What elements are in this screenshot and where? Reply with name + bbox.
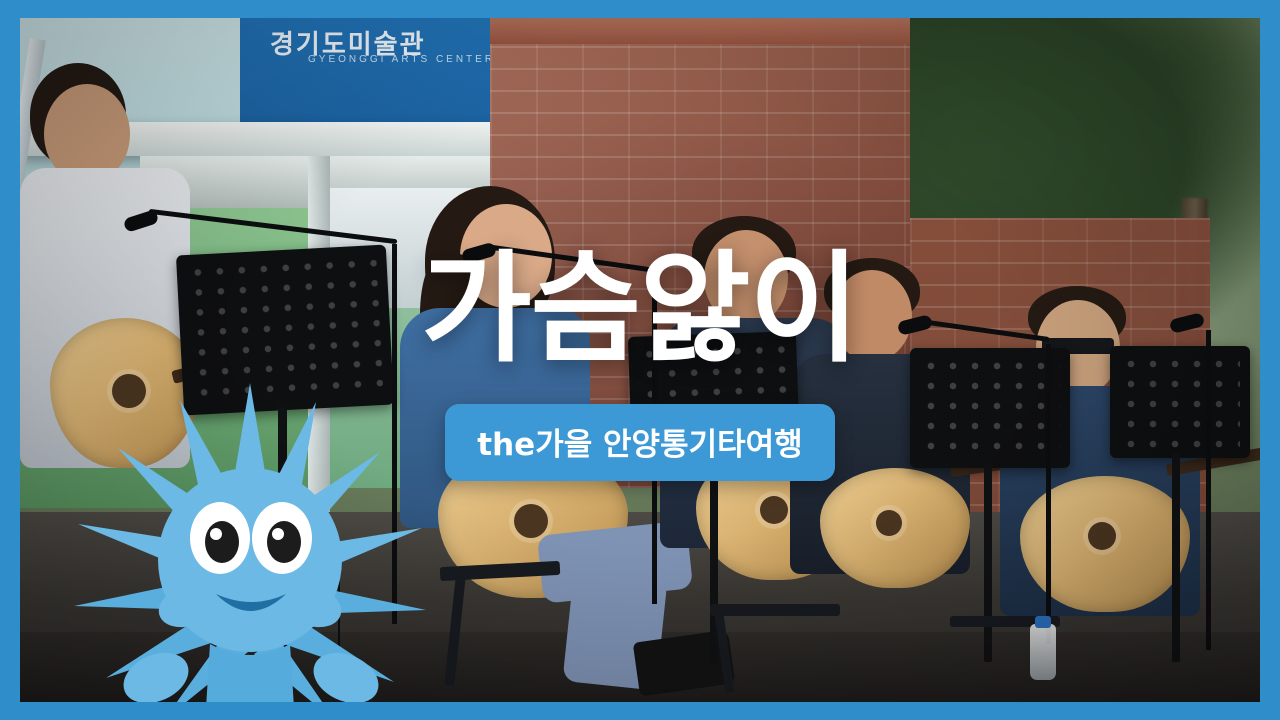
microphone-2-pole: [652, 274, 657, 604]
scene-photo: 경기도미술관 GYEONGGI ARTS CENTER: [20, 18, 1260, 702]
music-stand-4: [1110, 346, 1250, 458]
microphone-4-pole: [1206, 330, 1211, 650]
mascot-body: [204, 644, 296, 702]
frame-top: [0, 0, 1280, 18]
mascot-character: [60, 348, 440, 702]
venue-sign-subtext: GYEONGGI ARTS CENTER: [308, 54, 495, 65]
music-stand-4-pole: [1172, 452, 1180, 662]
music-stand-3-pole: [984, 462, 992, 662]
frame-right: [1260, 0, 1280, 720]
water-bottle-cap: [1035, 616, 1051, 628]
microphone-3-pole: [1046, 344, 1051, 644]
frame-left: [0, 0, 20, 720]
video-thumbnail: 경기도미술관 GYEONGGI ARTS CENTER: [0, 0, 1280, 720]
brick-wall-cap: [490, 18, 910, 44]
water-bottle: [1030, 624, 1056, 680]
chair-2: [710, 604, 840, 616]
frame-bottom: [0, 702, 1280, 720]
